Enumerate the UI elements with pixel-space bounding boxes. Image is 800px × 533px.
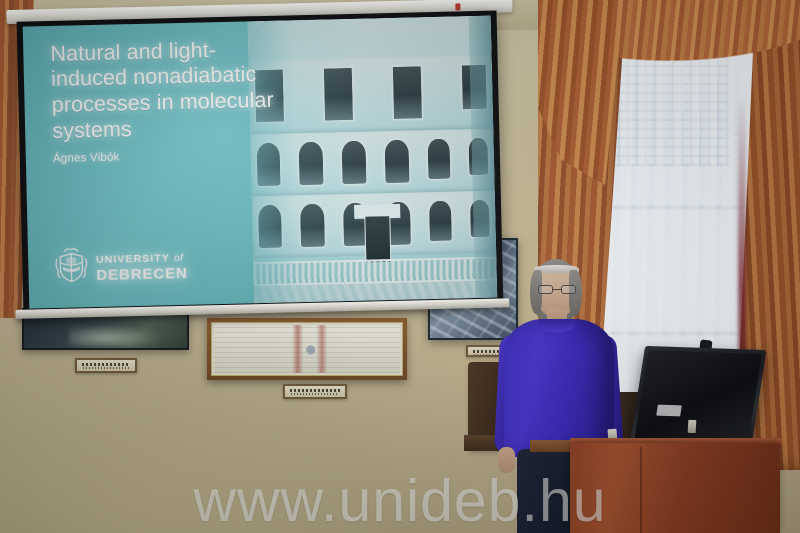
wooden-lectern <box>570 443 780 533</box>
projection-screen: Natural and light-induced nonadiabatic p… <box>17 10 504 313</box>
logo-line-debrecen: DEBRECEN <box>96 266 188 283</box>
screen-indicator-light <box>455 3 460 10</box>
logo-line-university: UNIVERSITY of <box>96 252 184 266</box>
lectern-panel-seam <box>640 447 642 533</box>
slide-author: Ágnes Vibók <box>53 151 120 165</box>
framed-site-plan <box>207 318 407 380</box>
lectern-clip-right <box>688 420 697 433</box>
lecture-hall-photo: Natural and light-induced nonadiabatic p… <box>0 0 800 533</box>
sweater-collar <box>539 319 575 332</box>
slide-building-photo <box>247 16 497 304</box>
projection-screen-assembly: Natural and light-induced nonadiabatic p… <box>8 0 516 326</box>
slide-title: Natural and light-induced nonadiabatic p… <box>50 36 277 144</box>
plaque-site-plan <box>283 384 347 399</box>
university-logo-wordmark: UNIVERSITY of DEBRECEN <box>96 249 188 283</box>
blue-sweater <box>504 319 614 457</box>
glasses-icon <box>538 285 576 294</box>
plaque-panoramic <box>75 358 137 373</box>
hand-left <box>498 447 515 473</box>
flat-panel-monitor <box>629 346 766 450</box>
university-logo: UNIVERSITY of DEBRECEN <box>54 244 188 290</box>
shield-crest-icon <box>54 246 89 290</box>
monitor-label-sticker <box>656 405 682 417</box>
photo-blend-gradient <box>247 16 497 304</box>
presentation-slide: Natural and light-induced nonadiabatic p… <box>23 16 498 309</box>
monitor-screen <box>634 350 762 446</box>
